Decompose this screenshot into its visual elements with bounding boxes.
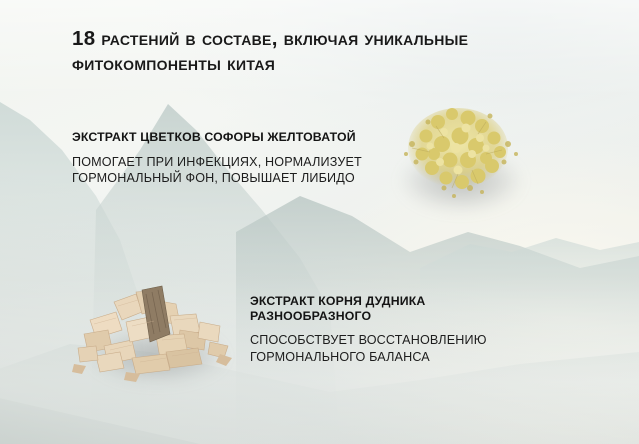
ingredient-description: СПОСОБСТВУЕТ ВОССТАНОВЛЕНИЮ ГОРМОНАЛЬНОГ…: [250, 332, 550, 365]
ingredient-heading: ЭКСТРАКТ КОРНЯ ДУДНИКА РАЗНООБРАЗНОГО: [250, 294, 550, 323]
dried-sophora-flowers-image: [382, 92, 530, 210]
ingredient-heading: ЭКСТРАКТ ЦВЕТКОВ СОФОРЫ ЖЕЛТОВАТОЙ: [72, 130, 372, 145]
dried-angelica-root-image: [70, 272, 240, 384]
promo-slide: 18 Растений в составе, включая уникальны…: [0, 0, 639, 444]
ingredient-description: ПОМОГАЕТ ПРИ ИНФЕКЦИЯХ, НОРМАЛИЗУЕТ ГОРМ…: [72, 154, 372, 187]
ingredient-block-sophora: ЭКСТРАКТ ЦВЕТКОВ СОФОРЫ ЖЕЛТОВАТОЙ ПОМОГ…: [72, 130, 372, 187]
ingredient-block-angelica: ЭКСТРАКТ КОРНЯ ДУДНИКА РАЗНООБРАЗНОГО СП…: [250, 294, 550, 365]
page-title: 18 Растений в составе, включая уникальны…: [72, 26, 552, 76]
woodchips-graphic: [70, 272, 240, 384]
flowers-graphic: [382, 92, 530, 210]
